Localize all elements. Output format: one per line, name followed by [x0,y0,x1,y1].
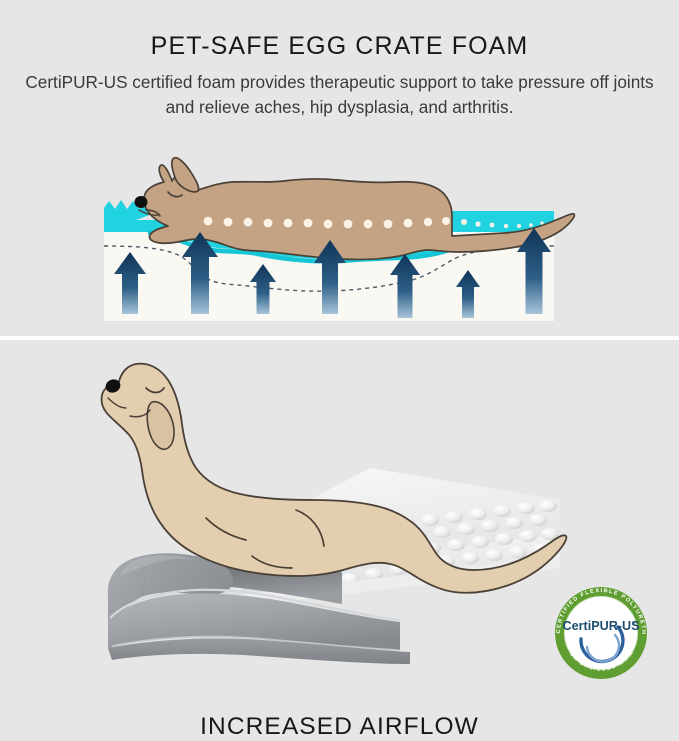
dog-nose [135,196,148,208]
illustration-dog-on-bolster-bed: CONTAINS CERTIFIED FLEXIBLE POLYURETHANE… [0,360,679,679]
badge-registered-mark: ® [632,620,636,627]
illustration-dog-on-egg-crate-foam [0,136,679,336]
panel-pet-safe-egg-crate-foam: PET-SAFE EGG CRATE FOAM CertiPUR-US cert… [0,0,679,338]
panel-increased-airflow: INCREASED AIRFLOW [0,340,679,679]
page-title-bottom: INCREASED AIRFLOW [0,713,679,741]
subtitle-description: CertiPUR-US certified foam provides ther… [22,70,657,120]
badge-brand-text: CertiPUR-US [563,619,640,633]
page-title-top: PET-SAFE EGG CRATE FOAM [0,32,679,61]
certipur-us-badge: CONTAINS CERTIFIED FLEXIBLE POLYURETHANE… [555,587,647,679]
